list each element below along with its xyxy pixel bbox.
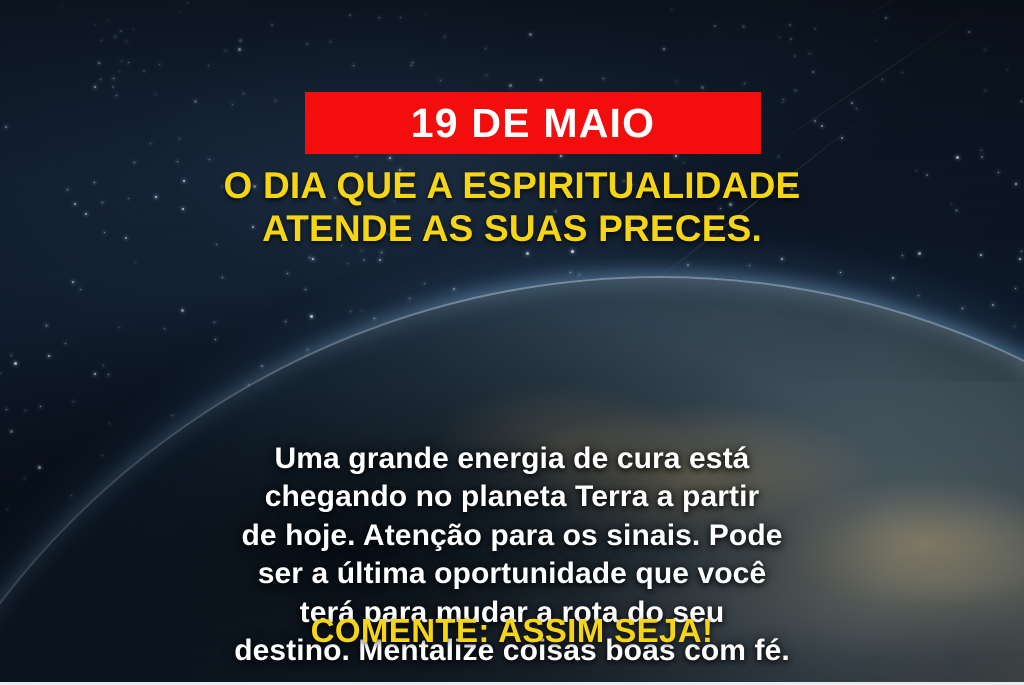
poster-canvas: 19 DE MAIO O DIA QUE A ESPIRITUALIDADE A… bbox=[0, 0, 1024, 685]
date-banner-text: 19 DE MAIO bbox=[411, 103, 655, 144]
call-to-action-text: COMENTE: ASSIM SEJA! bbox=[0, 612, 1024, 650]
body-line-2: chegando no planeta Terra a partir bbox=[38, 478, 986, 516]
body-line-4: ser a última oportunidade que você bbox=[38, 555, 986, 593]
headline: O DIA QUE A ESPIRITUALIDADE ATENDE AS SU… bbox=[0, 164, 1024, 251]
date-banner: 19 DE MAIO bbox=[305, 92, 761, 154]
body-line-3: de hoje. Atenção para os sinais. Pode bbox=[38, 517, 986, 555]
headline-line-1: O DIA QUE A ESPIRITUALIDADE bbox=[0, 164, 1024, 207]
body-line-1: Uma grande energia de cura está bbox=[38, 440, 986, 478]
poster-content: 19 DE MAIO O DIA QUE A ESPIRITUALIDADE A… bbox=[0, 0, 1024, 685]
headline-line-2: ATENDE AS SUAS PRECES. bbox=[0, 207, 1024, 250]
